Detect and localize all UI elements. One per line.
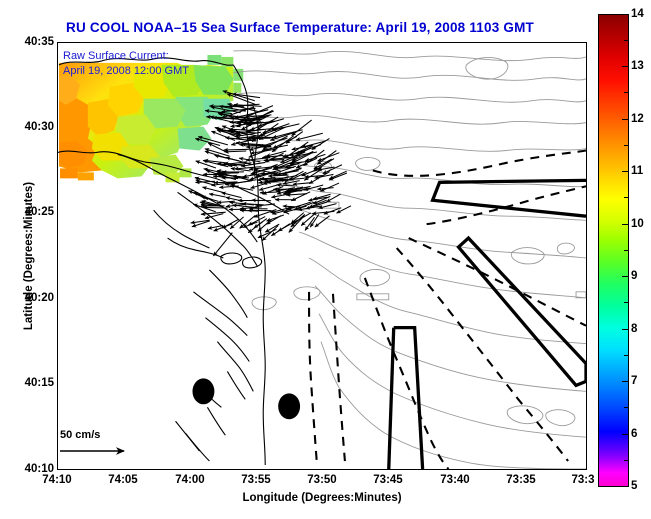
station-marker[interactable] <box>278 393 300 419</box>
colorbar-tick-label: 10 <box>631 219 644 229</box>
colorbar-tick-label: 12 <box>631 114 644 124</box>
x-axis-ticks: 74:10 74:05 74:00 73:55 73:50 73:45 73:4… <box>0 474 651 492</box>
x-tick-label: 74:00 <box>160 474 220 486</box>
y-tick-label: 40:15 <box>6 377 54 389</box>
colorbar-tick-label: 9 <box>631 271 637 281</box>
map-plot-area: Raw Surface Current: April 19, 2008 12:0… <box>57 42 587 470</box>
y-tick-label: 40:35 <box>6 36 54 48</box>
scale-key-label: 50 cm/s <box>57 429 158 441</box>
colorbar-ticks: 14 13 12 11 10 9 8 7 6 5 <box>598 0 651 519</box>
x-tick-label: 73:50 <box>292 474 352 486</box>
y-axis-label: Latitude (Degrees:Minutes) <box>23 141 35 371</box>
x-axis-label: Longitude (Degrees:Minutes) <box>57 492 587 504</box>
x-tick-label: 73:35 <box>491 474 551 486</box>
colorbar-tick-label: 6 <box>631 429 637 439</box>
colorbar-tick-label: 13 <box>631 61 644 71</box>
colorbar-tick-label: 11 <box>631 166 643 176</box>
station-marker[interactable] <box>192 378 214 404</box>
shipping-lanes-solid <box>389 180 586 469</box>
figure-root: RU COOL NOAA–15 Sea Surface Temperature:… <box>0 0 651 519</box>
map-canvas <box>58 43 586 469</box>
x-tick-label: 73:40 <box>425 474 485 486</box>
colorbar-tick-label: 7 <box>631 376 637 386</box>
x-tick-label: 73:55 <box>226 474 286 486</box>
x-tick-label: 73:45 <box>358 474 418 486</box>
station-markers <box>192 378 300 419</box>
x-tick-label: 74:10 <box>27 474 87 486</box>
colorbar-tick-label: 14 <box>631 9 644 19</box>
scale-key-arrow-icon <box>57 441 158 461</box>
figure-title: RU COOL NOAA–15 Sea Surface Temperature:… <box>0 20 600 35</box>
x-tick-label: 74:05 <box>93 474 153 486</box>
colorbar-tick-label: 5 <box>631 481 637 491</box>
colorbar-tick-label: 8 <box>631 324 637 334</box>
vector-scale-key: 50 cm/s <box>57 429 158 461</box>
y-tick-label: 40:30 <box>6 121 54 133</box>
shipping-lanes-dashed <box>309 150 586 469</box>
